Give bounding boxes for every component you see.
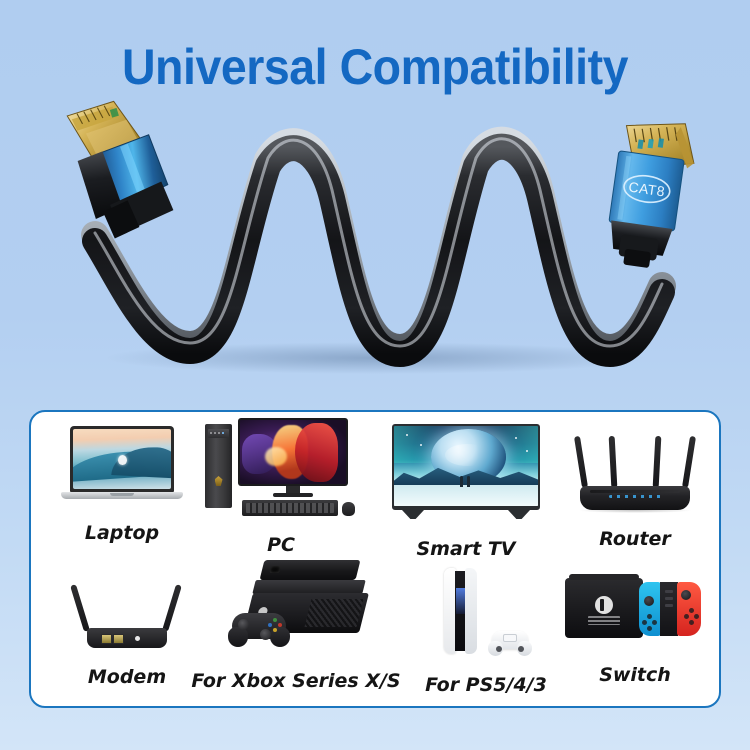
rj45-plug-right: CAT8 — [603, 115, 699, 272]
device-cell-smart-tv[interactable]: Smart TV — [376, 424, 556, 560]
modem-icon — [69, 578, 185, 650]
device-label: Switch — [551, 664, 719, 686]
nintendo-switch-icon — [565, 574, 705, 648]
product-image-stage: Universal Compatibility — [0, 0, 750, 750]
device-cell-laptop[interactable]: Laptop — [37, 426, 207, 544]
playstation-console-icon — [438, 568, 534, 660]
device-cell-router[interactable]: Router — [551, 432, 719, 550]
device-cell-modem[interactable]: Modem — [43, 578, 211, 688]
xbox-console-icon — [220, 560, 372, 660]
compatibility-card: Laptop PC — [29, 410, 721, 708]
desktop-pc-icon — [205, 418, 357, 517]
device-label: Modem — [43, 666, 211, 688]
page-title: Universal Compatibility — [26, 38, 724, 96]
device-label: Laptop — [37, 522, 207, 544]
smart-tv-icon — [392, 424, 540, 520]
device-cell-pc[interactable]: PC — [186, 418, 376, 556]
device-label: Smart TV — [376, 538, 556, 560]
device-cell-switch[interactable]: Switch — [551, 574, 719, 686]
device-label: Router — [551, 528, 719, 550]
router-icon — [572, 432, 698, 514]
rj45-plug-left — [66, 100, 176, 243]
hero-cable-illustration: CAT8 — [0, 100, 750, 400]
device-label: For Xbox Series X/S — [191, 670, 401, 692]
device-cell-xbox[interactable]: For Xbox Series X/S — [191, 560, 401, 692]
device-label: PC — [186, 534, 376, 556]
laptop-icon — [61, 426, 183, 504]
flat-cable-ribbon — [95, 139, 662, 354]
